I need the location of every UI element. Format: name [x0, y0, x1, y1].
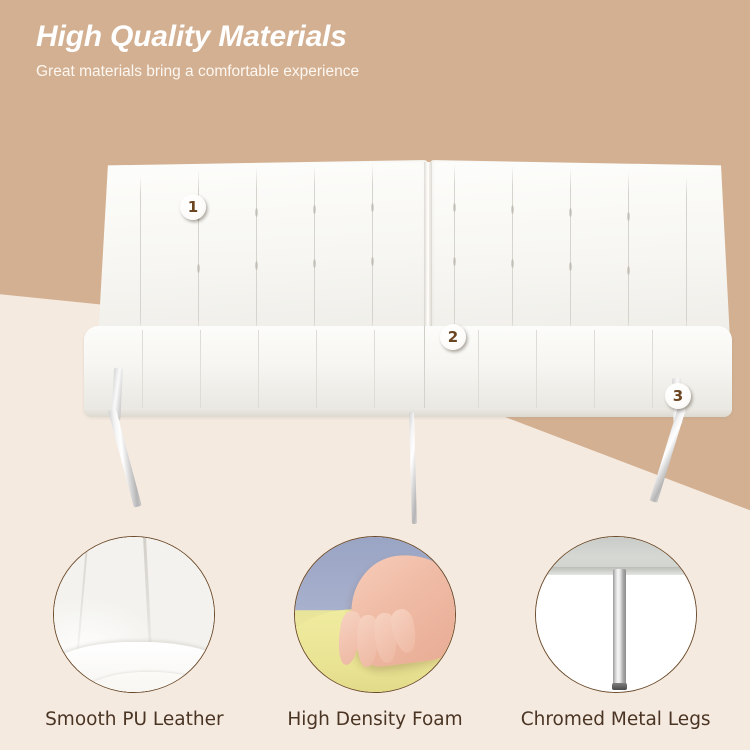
feature-image-pu-leather	[53, 536, 215, 693]
callout-badge-2[interactable]: 2	[440, 324, 466, 350]
sofa-leg-center	[409, 412, 417, 524]
sofa-seat-cushion	[84, 326, 732, 416]
sofa-leg-right	[650, 407, 686, 503]
sofa-seat-lip	[84, 408, 732, 417]
sofa-backrest-left	[98, 160, 428, 340]
header-block: High Quality Materials Great materials b…	[36, 20, 596, 83]
feature-item-chromed-metal-legs: Chromed Metal Legs	[506, 536, 726, 730]
sofa-backrest-right	[430, 160, 730, 340]
feature-image-chromed-metal-legs	[535, 536, 697, 693]
feature-item-pu-leather: Smooth PU Leather	[24, 536, 244, 730]
product-image-sofa	[78, 160, 738, 470]
feature-caption-pu-leather: Smooth PU Leather	[45, 709, 224, 730]
page-subtitle: Great materials bring a comfortable expe…	[36, 61, 366, 83]
feature-caption-chromed-metal-legs: Chromed Metal Legs	[521, 709, 711, 730]
callout-badge-3[interactable]: 3	[665, 383, 691, 409]
callout-badge-1[interactable]: 1	[180, 194, 206, 220]
infographic-page: High Quality Materials Great materials b…	[0, 0, 750, 750]
feature-image-high-density-foam	[294, 536, 456, 693]
feature-caption-high-density-foam: High Density Foam	[287, 709, 462, 730]
page-title: High Quality Materials	[36, 20, 596, 53]
feature-row: Smooth PU Leather High Density Foam	[0, 536, 750, 750]
feature-item-high-density-foam: High Density Foam	[265, 536, 485, 730]
sofa-leg-left	[108, 409, 142, 508]
